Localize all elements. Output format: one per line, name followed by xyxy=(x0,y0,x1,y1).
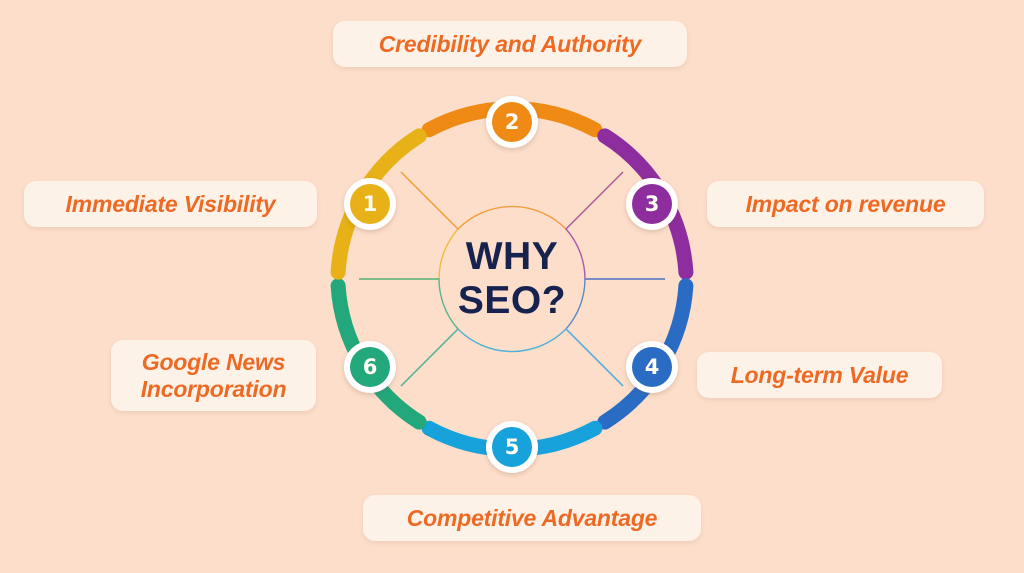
badge-5-number: 5 xyxy=(505,437,520,458)
badge-5-disc: 5 xyxy=(492,427,532,467)
badge-2[interactable]: 2 xyxy=(486,96,538,148)
badge-2-number: 2 xyxy=(505,112,520,133)
badge-1-disc: 1 xyxy=(350,184,390,224)
petal-outline-5 xyxy=(401,329,623,386)
badge-4-disc: 4 xyxy=(632,347,672,387)
badge-1[interactable]: 1 xyxy=(344,178,396,230)
label-long-term-value[interactable]: Long-term Value xyxy=(697,352,942,398)
badge-3-disc: 3 xyxy=(632,184,672,224)
badge-6[interactable]: 6 xyxy=(344,341,396,393)
badge-6-number: 6 xyxy=(363,357,378,378)
label-immediate-visibility[interactable]: Immediate Visibility xyxy=(24,181,317,227)
inner-petal-outlines xyxy=(359,172,665,386)
badge-6-disc: 6 xyxy=(350,347,390,387)
petal-outline-2 xyxy=(401,172,623,229)
badge-2-disc: 2 xyxy=(492,102,532,142)
badge-4-number: 4 xyxy=(645,357,660,378)
badge-3-number: 3 xyxy=(645,194,660,215)
badge-4[interactable]: 4 xyxy=(626,341,678,393)
label-google-news-incorporation[interactable]: Google News Incorporation xyxy=(111,340,316,411)
label-credibility-and-authority[interactable]: Credibility and Authority xyxy=(333,21,687,67)
infographic-canvas: WHY SEO? 1 2 3 4 5 6 Immediate Visibilit… xyxy=(0,0,1024,573)
badge-5[interactable]: 5 xyxy=(486,421,538,473)
badge-3[interactable]: 3 xyxy=(626,178,678,230)
label-impact-on-revenue[interactable]: Impact on revenue xyxy=(707,181,984,227)
label-competitive-advantage[interactable]: Competitive Advantage xyxy=(363,495,701,541)
badge-1-number: 1 xyxy=(363,194,378,215)
